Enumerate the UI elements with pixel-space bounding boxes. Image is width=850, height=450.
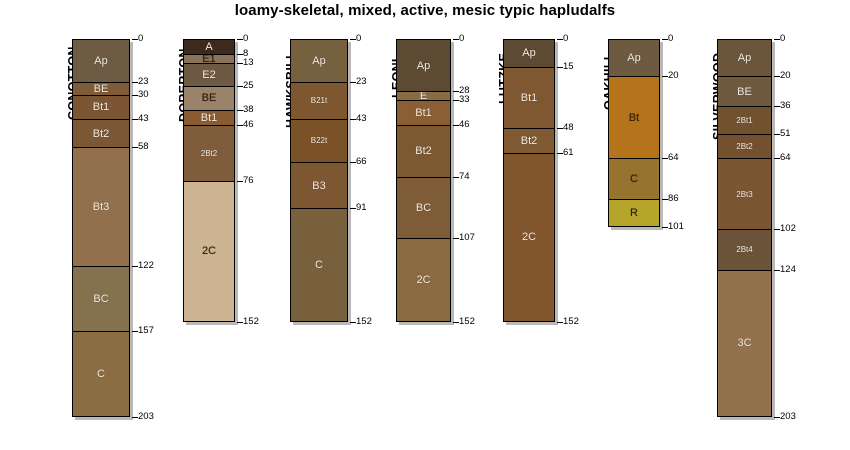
horizon-label: Bt2 bbox=[521, 135, 538, 147]
horizon-label: 2Bt3 bbox=[736, 190, 752, 199]
depth-tick-label: 107 bbox=[459, 233, 475, 243]
horizon-label: Ap bbox=[627, 52, 640, 64]
depth-tick-label: 23 bbox=[356, 77, 367, 87]
profile-column: ApEBt1Bt2BC2C bbox=[396, 39, 451, 322]
depth-tick-label: 0 bbox=[563, 34, 568, 44]
soil-horizon[interactable]: Bt1 bbox=[396, 100, 451, 124]
soil-horizon[interactable]: E2 bbox=[183, 63, 235, 85]
horizon-label: 2Bt2 bbox=[736, 142, 752, 151]
depth-tick-label: 48 bbox=[563, 123, 574, 133]
horizon-label: Ap bbox=[522, 47, 535, 59]
depth-tick-label: 64 bbox=[668, 153, 679, 163]
horizon-label: C bbox=[315, 259, 323, 271]
soil-horizon[interactable]: 2Bt4 bbox=[717, 229, 772, 270]
depth-tick-label: 66 bbox=[356, 157, 367, 167]
profile-column: ApBt1Bt22C bbox=[503, 39, 555, 322]
soil-horizon[interactable]: 3C bbox=[717, 270, 772, 417]
depth-tick-label: 15 bbox=[563, 62, 574, 72]
horizon-label: BE bbox=[737, 86, 752, 98]
soil-horizon[interactable]: Bt2 bbox=[396, 125, 451, 177]
soil-horizon[interactable]: 2Bt1 bbox=[717, 106, 772, 134]
profile-shadow bbox=[399, 322, 454, 325]
depth-tick-label: 20 bbox=[668, 71, 679, 81]
soil-horizon[interactable]: Bt1 bbox=[503, 67, 555, 128]
depth-tick-label: 64 bbox=[780, 153, 791, 163]
horizon-label: 2Bt1 bbox=[736, 116, 752, 125]
depth-tick-label: 20 bbox=[780, 71, 791, 81]
horizon-label: 2Bt4 bbox=[736, 245, 752, 254]
soil-horizon[interactable]: A bbox=[183, 39, 235, 54]
soil-horizon[interactable]: C bbox=[290, 208, 348, 322]
soil-horizon[interactable]: Ap bbox=[503, 39, 555, 67]
depth-tick-label: 152 bbox=[563, 317, 579, 327]
soil-horizon[interactable]: E1 bbox=[183, 54, 235, 63]
horizon-label: Bt2 bbox=[93, 128, 110, 140]
horizon-label: C bbox=[97, 368, 105, 380]
depth-tick-label: 33 bbox=[459, 95, 470, 105]
soil-horizon[interactable]: BC bbox=[72, 266, 130, 331]
horizon-label: Ap bbox=[738, 52, 751, 64]
soil-horizon[interactable]: Bt1 bbox=[183, 110, 235, 125]
horizon-label: R bbox=[630, 207, 638, 219]
depth-tick-label: 46 bbox=[459, 120, 470, 130]
soil-horizon[interactable]: 2C bbox=[503, 153, 555, 322]
horizon-label: BE bbox=[94, 83, 109, 95]
depth-tick-label: 0 bbox=[780, 34, 785, 44]
profile-shadow bbox=[660, 42, 663, 230]
soil-horizon[interactable]: Bt3 bbox=[72, 147, 130, 266]
depth-tick-label: 36 bbox=[780, 101, 791, 111]
horizon-label: B21t bbox=[311, 96, 327, 105]
soil-horizon[interactable]: Ap bbox=[290, 39, 348, 82]
depth-tick-label: 43 bbox=[356, 114, 367, 124]
soil-horizon[interactable]: C bbox=[608, 158, 660, 199]
horizon-label: Bt1 bbox=[201, 112, 218, 124]
horizon-label: 2C bbox=[202, 245, 216, 257]
depth-tick-label: 30 bbox=[138, 90, 149, 100]
depth-tick-label: 74 bbox=[459, 172, 470, 182]
horizon-label: 2Bt2 bbox=[201, 149, 217, 158]
horizon-label: Bt2 bbox=[415, 145, 432, 157]
horizon-label: A bbox=[205, 41, 212, 53]
profile-shadow bbox=[720, 417, 775, 420]
depth-tick-label: 101 bbox=[668, 222, 684, 232]
depth-tick-label: 86 bbox=[668, 194, 679, 204]
soil-horizon[interactable]: B22t bbox=[290, 119, 348, 162]
profile-shadow bbox=[186, 322, 238, 325]
depth-tick-label: 58 bbox=[138, 142, 149, 152]
profile-shadow bbox=[348, 42, 351, 325]
profile-column: ApB21tB22tB3C bbox=[290, 39, 348, 322]
depth-tick-label: 203 bbox=[780, 412, 796, 422]
depth-tick-label: 0 bbox=[243, 34, 248, 44]
profile-shadow bbox=[451, 42, 454, 325]
profile-shadow bbox=[235, 42, 238, 325]
profile-column: ApBEBt1Bt2Bt3BCC bbox=[72, 39, 130, 417]
depth-tick-label: 152 bbox=[356, 317, 372, 327]
profile-shadow bbox=[611, 227, 663, 230]
horizon-label: E1 bbox=[202, 54, 215, 63]
horizon-label: BE bbox=[202, 92, 217, 104]
soil-horizon[interactable]: Bt2 bbox=[503, 128, 555, 152]
soil-horizon[interactable]: 2Bt2 bbox=[183, 125, 235, 181]
depth-tick-label: 51 bbox=[780, 129, 791, 139]
horizon-label: Bt1 bbox=[415, 107, 432, 119]
horizon-label: Bt bbox=[629, 112, 639, 124]
horizon-label: B22t bbox=[311, 136, 327, 145]
soil-horizon[interactable]: Ap bbox=[608, 39, 660, 76]
soil-horizon[interactable]: BE bbox=[183, 86, 235, 110]
profile-column: ApBE2Bt12Bt22Bt32Bt43C bbox=[717, 39, 772, 417]
profile-shadow bbox=[75, 417, 133, 420]
depth-tick-label: 38 bbox=[243, 105, 254, 115]
profile-shadow bbox=[293, 322, 351, 325]
depth-tick-label: 76 bbox=[243, 176, 254, 186]
depth-tick-label: 124 bbox=[780, 265, 796, 275]
depth-tick-label: 0 bbox=[459, 34, 464, 44]
profile-shadow bbox=[130, 42, 133, 420]
horizon-label: 2C bbox=[416, 274, 430, 286]
horizon-label: BC bbox=[416, 202, 431, 214]
depth-tick-label: 0 bbox=[668, 34, 673, 44]
depth-tick-label: 157 bbox=[138, 326, 154, 336]
soil-horizon[interactable]: E bbox=[396, 91, 451, 100]
horizon-label: E bbox=[420, 91, 427, 100]
soil-horizon[interactable]: Bt2 bbox=[72, 119, 130, 147]
soil-horizon[interactable]: 2C bbox=[396, 238, 451, 322]
horizon-label: BC bbox=[93, 293, 108, 305]
horizon-label: C bbox=[630, 173, 638, 185]
horizon-label: 3C bbox=[737, 337, 751, 349]
horizon-label: Ap bbox=[94, 55, 107, 67]
horizon-label: Bt1 bbox=[93, 101, 110, 113]
soil-horizon[interactable]: Ap bbox=[72, 39, 130, 82]
page-title: loamy-skeletal, mixed, active, mesic typ… bbox=[0, 2, 850, 19]
depth-tick-label: 46 bbox=[243, 120, 254, 130]
depth-tick-label: 122 bbox=[138, 261, 154, 271]
soil-horizon[interactable]: 2C bbox=[183, 181, 235, 323]
profile-column: AE1E2BEBt12Bt22C bbox=[183, 39, 235, 322]
soil-horizon[interactable]: Ap bbox=[396, 39, 451, 91]
soil-horizon[interactable]: R bbox=[608, 199, 660, 227]
profile-column: ApBtCR bbox=[608, 39, 660, 227]
soil-horizon[interactable]: Bt1 bbox=[72, 95, 130, 119]
depth-tick-label: 13 bbox=[243, 58, 254, 68]
horizon-label: Bt3 bbox=[93, 201, 110, 213]
depth-tick-label: 25 bbox=[243, 81, 254, 91]
profile-shadow bbox=[772, 42, 775, 420]
soil-horizon[interactable]: BE bbox=[72, 82, 130, 95]
soil-horizon[interactable]: Ap bbox=[717, 39, 772, 76]
soil-horizon[interactable]: BC bbox=[396, 177, 451, 238]
depth-tick-label: 152 bbox=[243, 317, 259, 327]
soil-horizon[interactable]: 2Bt2 bbox=[717, 134, 772, 158]
depth-tick-label: 0 bbox=[356, 34, 361, 44]
depth-tick-label: 43 bbox=[138, 114, 149, 124]
soil-horizon[interactable]: C bbox=[72, 331, 130, 417]
depth-tick-label: 203 bbox=[138, 412, 154, 422]
soil-horizon[interactable]: Bt bbox=[608, 76, 660, 158]
depth-tick-label: 23 bbox=[138, 77, 149, 87]
soil-horizon[interactable]: B21t bbox=[290, 82, 348, 119]
soil-horizon[interactable]: B3 bbox=[290, 162, 348, 209]
horizon-label: Bt1 bbox=[521, 92, 538, 104]
horizon-label: B3 bbox=[312, 180, 325, 192]
horizon-label: 2C bbox=[522, 231, 536, 243]
profile-shadow bbox=[555, 42, 558, 325]
depth-tick-label: 91 bbox=[356, 203, 367, 213]
soil-horizon[interactable]: BE bbox=[717, 76, 772, 106]
depth-tick-label: 0 bbox=[138, 34, 143, 44]
depth-tick-label: 152 bbox=[459, 317, 475, 327]
soil-horizon[interactable]: 2Bt3 bbox=[717, 158, 772, 229]
horizon-label: Ap bbox=[312, 55, 325, 67]
horizon-label: E2 bbox=[202, 69, 215, 81]
profile-shadow bbox=[506, 322, 558, 325]
depth-tick-label: 102 bbox=[780, 224, 796, 234]
depth-tick-label: 61 bbox=[563, 148, 574, 158]
horizon-label: Ap bbox=[417, 60, 430, 72]
